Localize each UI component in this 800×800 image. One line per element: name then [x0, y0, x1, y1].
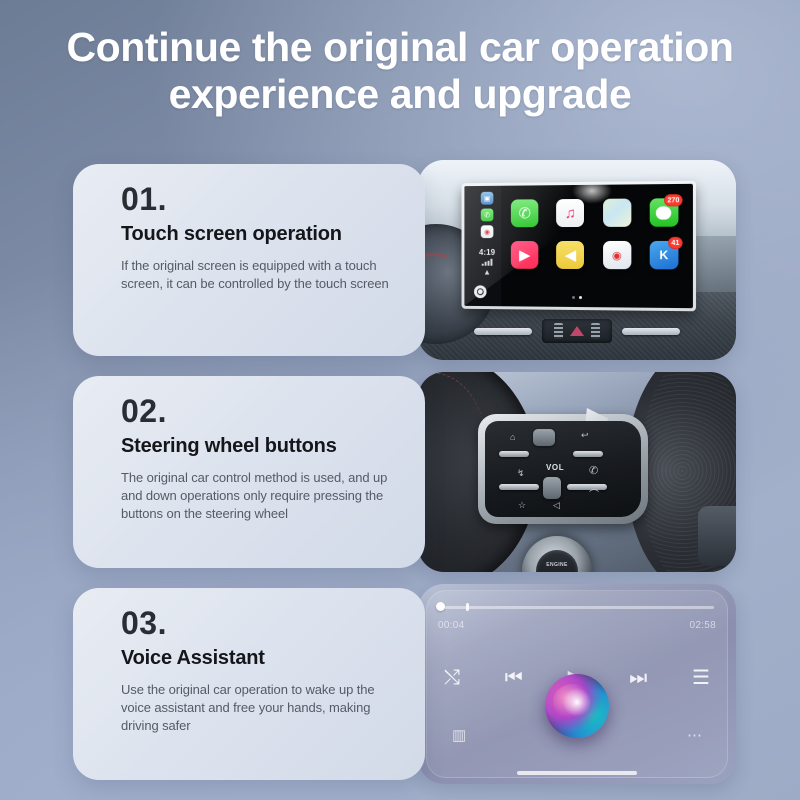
music-app[interactable]: ♫: [556, 199, 584, 227]
volume-down-rocker[interactable]: [499, 484, 539, 490]
media-steering-wheel: ⌂ ↩ VOL ↯ ✆ ⌒ ☆ ◁ ENGINE: [418, 372, 736, 572]
volume-knob[interactable]: [543, 477, 561, 499]
phone-app[interactable]: ✆: [511, 199, 538, 227]
messages-badge: 270: [664, 194, 682, 206]
voice-button[interactable]: ↯: [517, 469, 525, 478]
card-title: Touch screen operation: [121, 222, 403, 246]
video-app[interactable]: ▶: [511, 241, 538, 269]
feature-row-voice-assistant: 00:04 02:58 ⤭ ⏮ ▶ ⏭ ☰ ▥ ⋯ 03. Voice Assi…: [0, 584, 800, 784]
left-rocker[interactable]: [499, 451, 529, 457]
hazard-icon: [570, 326, 584, 336]
elapsed-time: 00:04: [438, 620, 465, 631]
navigation-app[interactable]: ◉: [603, 241, 631, 269]
progress-track[interactable]: [440, 606, 714, 609]
home-button[interactable]: ⌂: [510, 433, 515, 442]
card-description: Use the original car operation to wake u…: [121, 681, 403, 735]
steering-control-panel: ⌂ ↩ VOL ↯ ✆ ⌒ ☆ ◁: [478, 414, 648, 524]
dashboard-vents: [436, 314, 718, 348]
feature-card-voice-assistant: 03. Voice Assistant Use the original car…: [73, 588, 425, 780]
card-description: If the original screen is equipped with …: [121, 257, 403, 293]
hangup-button[interactable]: ⌒: [589, 491, 599, 500]
page-title-line-1: Continue the original car operation: [30, 24, 770, 71]
carplay-sidebar: ▣ ✆ ◉ 4:19 ▲: [464, 186, 501, 306]
camera-mini-app[interactable]: ▣: [481, 192, 494, 205]
playlist-button[interactable]: ☰: [692, 668, 710, 688]
wifi-icon: ▲: [483, 269, 491, 277]
right-rocker[interactable]: [573, 451, 603, 457]
now-playing-background: 00:04 02:58 ⤭ ⏮ ▶ ⏭ ☰ ▥ ⋯: [418, 584, 736, 784]
page-title: Continue the original car operation expe…: [0, 24, 800, 118]
page-dot-2: [578, 296, 581, 299]
side-vent: [698, 506, 736, 566]
home-indicator: [517, 771, 637, 775]
signal-icon: [481, 259, 493, 266]
dashboard-background: ▣ ✺ ◍ ↩ ◈ ⊕ ⊖ ▣ ✆ ◉ 4:19 ▲: [418, 160, 736, 360]
favorite-button[interactable]: ☆: [518, 501, 526, 510]
siri-orb[interactable]: [545, 674, 609, 738]
maps-app[interactable]: [603, 199, 631, 227]
media-now-playing: 00:04 02:58 ⤭ ⏮ ▶ ⏭ ☰ ▥ ⋯: [418, 584, 736, 784]
vent-slats-right: [591, 323, 600, 339]
phone-button[interactable]: ✆: [589, 467, 598, 476]
volume-label: VOL: [546, 463, 564, 472]
engine-label: ENGINE: [522, 562, 592, 568]
carplay-screen[interactable]: ▣ ✺ ◍ ↩ ◈ ⊕ ⊖ ▣ ✆ ◉ 4:19 ▲: [464, 184, 693, 308]
page-title-line-2: experience and upgrade: [30, 71, 770, 118]
back-button[interactable]: ↩: [581, 431, 589, 440]
feature-row-steering-wheel: ⌂ ↩ VOL ↯ ✆ ⌒ ☆ ◁ ENGINE: [0, 372, 800, 572]
head-unit: ▣ ✺ ◍ ↩ ◈ ⊕ ⊖ ▣ ✆ ◉ 4:19 ▲: [462, 181, 697, 312]
vent-slats-left: [554, 323, 563, 339]
page-dot-1: [572, 296, 575, 299]
mute-button[interactable]: ◁: [553, 501, 560, 510]
feature-row-touch-screen: ▣ ✺ ◍ ↩ ◈ ⊕ ⊖ ▣ ✆ ◉ 4:19 ▲: [0, 160, 800, 360]
card-number: 03.: [121, 604, 403, 642]
card-title: Voice Assistant: [121, 646, 403, 670]
phone-mini-app[interactable]: ✆: [481, 209, 494, 222]
vent-center: [542, 319, 612, 343]
card-number: 01.: [121, 180, 403, 218]
vent-right: [622, 328, 680, 335]
card-description: The original car control method is used,…: [121, 469, 403, 523]
control-panel-surface: ⌂ ↩ VOL ↯ ✆ ⌒ ☆ ◁: [485, 421, 641, 517]
vent-left: [474, 328, 532, 335]
feature-card-steering-wheel: 02. Steering wheel buttons The original …: [73, 376, 425, 568]
maps-mini-app[interactable]: ◉: [481, 225, 494, 238]
engine-start-button[interactable]: ENGINE: [522, 536, 592, 572]
steering-wheel-background: ⌂ ↩ VOL ↯ ✆ ⌒ ☆ ◁ ENGINE: [418, 372, 736, 572]
dpad-button[interactable]: [533, 429, 555, 446]
kugou-app[interactable]: K 41: [650, 241, 679, 269]
shuffle-button[interactable]: ⤭: [444, 668, 460, 688]
media-carplay-dashboard: ▣ ✺ ◍ ↩ ◈ ⊕ ⊖ ▣ ✆ ◉ 4:19 ▲: [418, 160, 736, 360]
carplay-app-grid: ✆ ♫ 270 ▶ ◀ ◉ K 41: [507, 198, 683, 269]
kugou-badge: 41: [668, 237, 682, 249]
carplay-clock: 4:19: [479, 248, 495, 257]
previous-button[interactable]: ⏮: [505, 668, 523, 688]
more-button[interactable]: ⋯: [687, 726, 702, 746]
messages-app[interactable]: 270: [650, 198, 679, 227]
card-title: Steering wheel buttons: [121, 434, 403, 458]
progress-knob[interactable]: [436, 602, 445, 611]
progress-marker: [466, 603, 469, 611]
volume-up-rocker[interactable]: [567, 484, 607, 490]
next-button[interactable]: ⏭: [629, 668, 647, 688]
feature-card-touch-screen: 01. Touch screen operation If the origin…: [73, 164, 425, 356]
audio-app[interactable]: ◀: [556, 241, 584, 269]
card-number: 02.: [121, 392, 403, 430]
source-button[interactable]: ▥: [452, 726, 466, 746]
duration-time: 02:58: [689, 620, 716, 631]
